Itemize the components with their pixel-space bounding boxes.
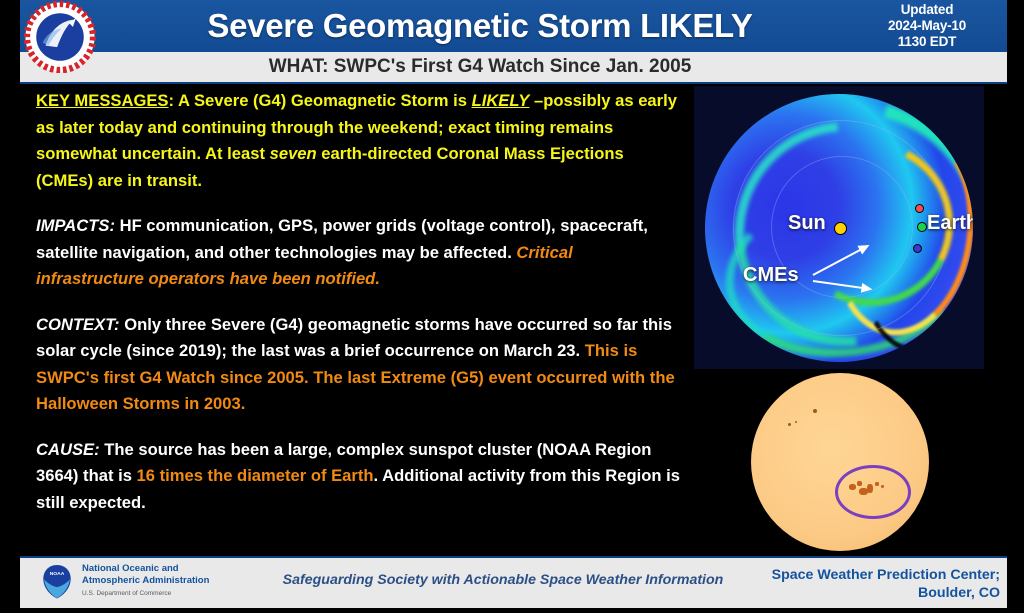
- key-messages-label: KEY MESSAGES: [36, 91, 168, 110]
- context-text: Only three Severe (G4) geomagnetic storm…: [36, 315, 672, 361]
- cause-highlight: 16 times the diameter of Earth: [137, 466, 374, 485]
- swpc-center-name: Space Weather Prediction Center;: [720, 566, 1000, 584]
- space-weather-advisory-slide: Severe Geomagnetic Storm LIKELY Updated …: [0, 0, 1024, 613]
- noaa-agency-name: National Oceanic and Atmospheric Adminis…: [82, 563, 209, 600]
- wsa-enlil-model-image: Sun Earth CMEs: [694, 86, 984, 369]
- updated-date: 2024-May-10: [852, 18, 1002, 34]
- cmes-label: CMEs: [743, 264, 799, 287]
- svg-text:NOAA: NOAA: [50, 571, 65, 577]
- page-title: Severe Geomagnetic Storm LIKELY: [110, 2, 850, 50]
- stereo-b-marker-icon: [913, 244, 922, 253]
- sunspot-small-c: [795, 421, 797, 423]
- sunspot-small-b: [788, 423, 791, 426]
- noaa-line-1: National Oceanic and: [82, 563, 209, 575]
- noaa-line-2: Atmospheric Administration: [82, 575, 209, 587]
- cause-paragraph: CAUSE: The source has been a large, comp…: [36, 437, 684, 517]
- sun-label: Sun: [788, 212, 826, 235]
- noaa-logo: NOAA: [38, 562, 76, 600]
- national-weather-service-logo: [24, 1, 96, 73]
- solar-disk-image: [745, 372, 967, 552]
- stereo-a-marker-icon: [915, 204, 924, 213]
- updated-timestamp: Updated 2024-May-10 1130 EDT: [852, 2, 1002, 50]
- key-messages-line1a: : A Severe (G4) Geomagnetic Storm is: [168, 91, 471, 110]
- earth-marker-icon: [917, 222, 927, 232]
- sun-marker-icon: [834, 222, 847, 235]
- region-highlight-ellipse: [835, 465, 911, 519]
- enlil-heliosphere-disk: Sun Earth CMEs: [705, 94, 973, 362]
- advisory-body: KEY MESSAGES: A Severe (G4) Geomagnetic …: [36, 88, 684, 524]
- key-messages-line1b: –: [529, 91, 543, 110]
- updated-time: 1130 EDT: [852, 34, 1002, 50]
- key-messages-seven: seven: [270, 144, 317, 163]
- earth-label: Earth: [927, 212, 973, 235]
- swpc-location: Boulder, CO: [720, 584, 1000, 602]
- context-label: CONTEXT:: [36, 315, 120, 334]
- sunspot-small-a: [813, 409, 817, 413]
- subtitle-text: WHAT: SWPC's First G4 Watch Since Jan. 2…: [110, 52, 850, 82]
- cause-label: CAUSE:: [36, 440, 100, 459]
- sun-photosphere-disk: [751, 373, 929, 551]
- footer-tagline: Safeguarding Society with Actionable Spa…: [278, 572, 728, 588]
- impacts-paragraph: IMPACTS: HF communication, GPS, power gr…: [36, 213, 684, 293]
- noaa-department-line: U.S. Department of Commerce: [82, 588, 209, 600]
- key-messages-paragraph: KEY MESSAGES: A Severe (G4) Geomagnetic …: [36, 88, 684, 194]
- key-messages-likely: LIKELY: [472, 91, 530, 110]
- updated-label: Updated: [852, 2, 1002, 18]
- swpc-attribution: Space Weather Prediction Center; Boulder…: [720, 566, 1000, 602]
- context-paragraph: CONTEXT: Only three Severe (G4) geomagne…: [36, 312, 684, 418]
- impacts-label: IMPACTS:: [36, 216, 115, 235]
